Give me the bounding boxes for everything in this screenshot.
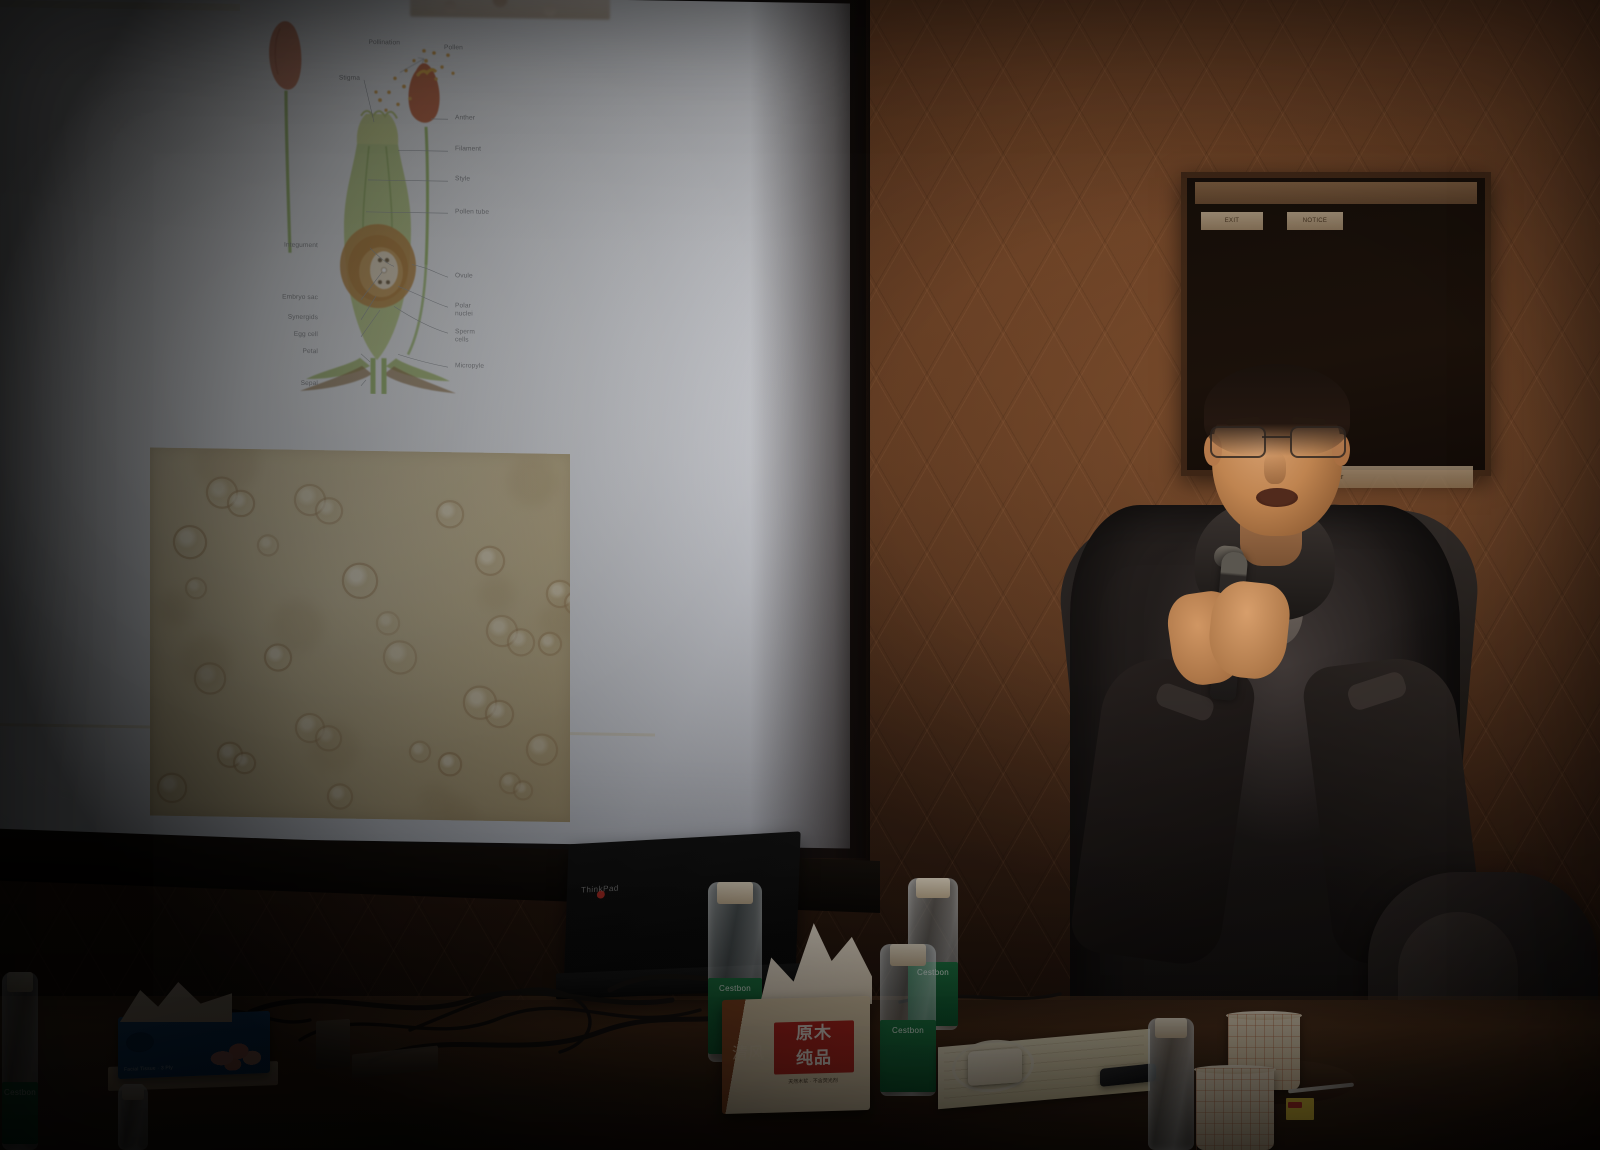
conference-room-scene: PollenAntherFilamentStylePollen tubeOvul… bbox=[0, 0, 1600, 1150]
scene-vignette bbox=[0, 0, 1600, 1150]
